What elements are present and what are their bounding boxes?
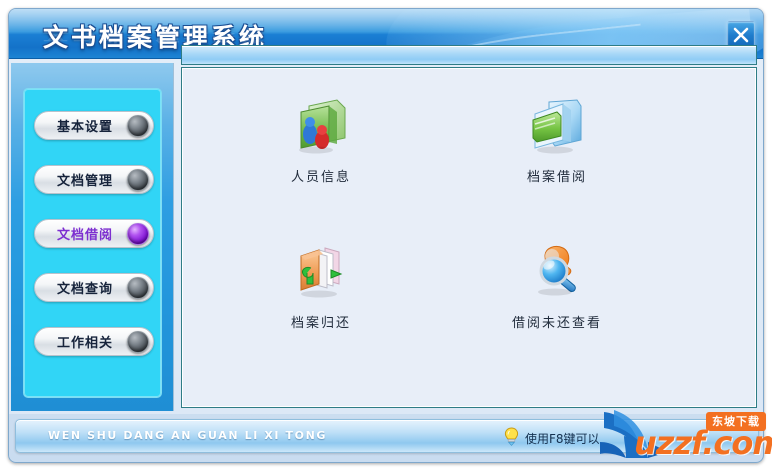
orb-icon	[127, 223, 149, 245]
icon-item-label: 人员信息	[291, 166, 351, 185]
icon-item-label: 借阅未还查看	[512, 312, 602, 331]
sidebar-item-basic-settings[interactable]: 基本设置	[34, 111, 154, 140]
sidebar-item-label: 基本设置	[35, 116, 127, 135]
orb-icon	[127, 277, 149, 299]
sidebar-item-label: 工作相关	[35, 332, 127, 351]
window-body: 基本设置 文档管理 文档借阅 文档查询	[9, 59, 764, 414]
books-return-icon	[289, 240, 353, 302]
search-magnifier-icon	[525, 240, 589, 302]
panel-toolbar-strip	[181, 45, 757, 65]
folder-books-icon	[525, 94, 589, 156]
icon-grid: 人员信息	[182, 86, 756, 406]
orb-icon	[127, 331, 149, 353]
icon-item-archive-borrow[interactable]: 档案借阅	[482, 94, 632, 204]
status-tip-text: 使用F8键可以	[525, 430, 600, 447]
sidebar-item-label: 文档借阅	[35, 224, 127, 243]
status-bar: WEN SHU DANG AN GUAN LI XI TONG 使用F8键可以	[15, 419, 759, 453]
sidebar-item-label: 文档查询	[35, 278, 127, 297]
icon-item-people-info[interactable]: 人员信息	[246, 94, 396, 204]
icon-item-label: 档案借阅	[527, 166, 587, 185]
orb-icon	[127, 169, 149, 191]
status-pinyin-text: WEN SHU DANG AN GUAN LI XI TONG	[48, 429, 327, 442]
sidebar-panel: 基本设置 文档管理 文档借阅 文档查询	[23, 88, 162, 398]
app-root: 文书档案管理系统 文书档案管理系统 基本设置	[0, 0, 772, 471]
sidebar-item-document-query[interactable]: 文档查询	[34, 273, 154, 302]
people-folder-icon	[289, 94, 353, 156]
sidebar-item-label: 文档管理	[35, 170, 127, 189]
sidebar-item-document-management[interactable]: 文档管理	[34, 165, 154, 194]
sidebar-item-document-borrow[interactable]: 文档借阅	[34, 219, 154, 248]
application-window: 文书档案管理系统 文书档案管理系统 基本设置	[8, 8, 764, 463]
sidebar: 基本设置 文档管理 文档借阅 文档查询	[11, 63, 174, 411]
main-content-panel: 人员信息	[181, 67, 757, 408]
icon-item-archive-return[interactable]: 档案归还	[246, 240, 396, 350]
status-tip: 使用F8键可以	[503, 427, 600, 450]
orb-icon	[127, 115, 149, 137]
icon-item-unreturned-view[interactable]: 借阅未还查看	[482, 240, 632, 350]
sidebar-item-work-related[interactable]: 工作相关	[34, 327, 154, 356]
icon-item-label: 档案归还	[291, 312, 351, 331]
lightbulb-icon	[503, 427, 520, 450]
